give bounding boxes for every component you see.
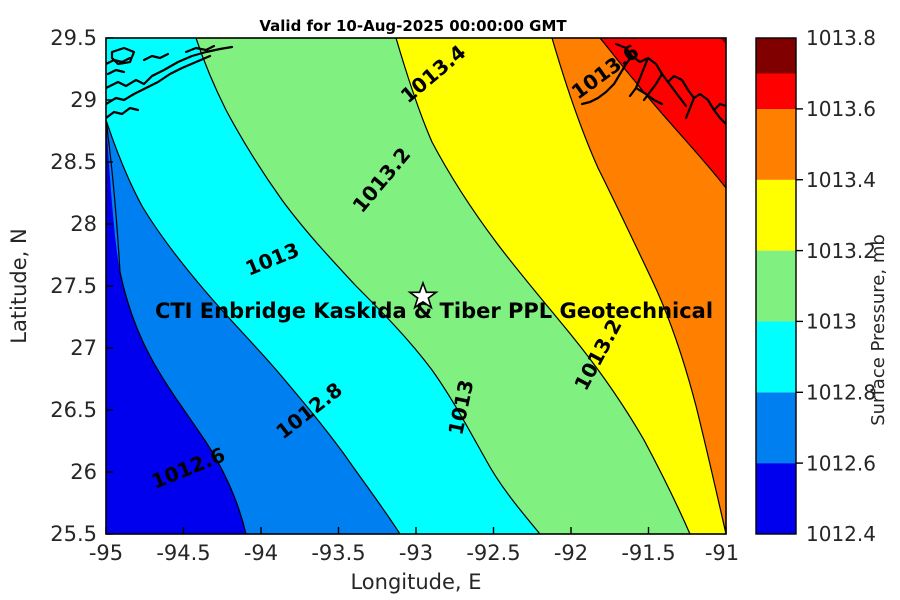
colorbar-band-1013.8-top: [756, 38, 796, 73]
colorbar-tick-label: 1012.6: [806, 451, 876, 475]
y-tick-label: 28.5: [50, 150, 97, 174]
colorbar-tick-label: 1012.4: [806, 522, 876, 546]
contour-figure: Valid for 10-Aug-2025 00:00:00 GMT: [0, 0, 900, 600]
y-tick-label: 29: [70, 88, 97, 112]
colorbar-band-1012.4: [756, 463, 796, 534]
colorbar-band-1013.4: [756, 109, 796, 180]
colorbar-title: Surface Pressure, mb: [868, 234, 889, 426]
site-annotation-label: CTI Enbridge Kaskida & Tiber PPL Geotech…: [155, 299, 713, 323]
x-tick-label: -91: [705, 541, 739, 565]
y-tick-label: 27.5: [50, 274, 97, 298]
x-tick-label: -92: [554, 541, 588, 565]
x-tick-label: -94.5: [156, 541, 210, 565]
colorbar-tick-label: 1013.2: [806, 239, 876, 263]
y-tick-label: 25.5: [50, 522, 97, 546]
x-tick-label: -93: [399, 541, 433, 565]
x-axis-title: Longitude, E: [350, 570, 481, 594]
colorbar-band-1012.6: [756, 392, 796, 463]
y-tick-label: 26: [70, 460, 97, 484]
x-tick-label: -93.5: [311, 541, 365, 565]
y-tick-label: 26.5: [50, 398, 97, 422]
colorbar-tick-label: 1013.6: [806, 97, 876, 121]
colorbar-band-1013.0: [756, 251, 796, 322]
colorbar-tick-label: 1013.4: [806, 168, 876, 192]
y-tick-label: 27: [70, 336, 97, 360]
colorbar-band-1012.8: [756, 321, 796, 392]
page-title: Valid for 10-Aug-2025 00:00:00 GMT: [259, 17, 567, 35]
x-tick-label: -92.5: [466, 541, 520, 565]
y-axis-title: Latitude, N: [7, 228, 31, 344]
y-tick-label: 29.5: [50, 26, 97, 50]
x-tick-label: -91.5: [621, 541, 675, 565]
colorbar-tick-label: 1013.8: [806, 26, 876, 50]
x-tick-label: -94: [244, 541, 278, 565]
colorbar-tick-label: 1012.8: [806, 381, 876, 405]
x-tick-labels: -95 -94.5 -94 -93.5 -93 -92.5 -92 -91.5 …: [89, 541, 739, 565]
colorbar-tick-label: 1013: [806, 310, 857, 334]
y-tick-label: 28: [70, 212, 97, 236]
colorbar-band-1013.6: [756, 73, 796, 109]
colorbar-band-1013.2: [756, 180, 796, 251]
